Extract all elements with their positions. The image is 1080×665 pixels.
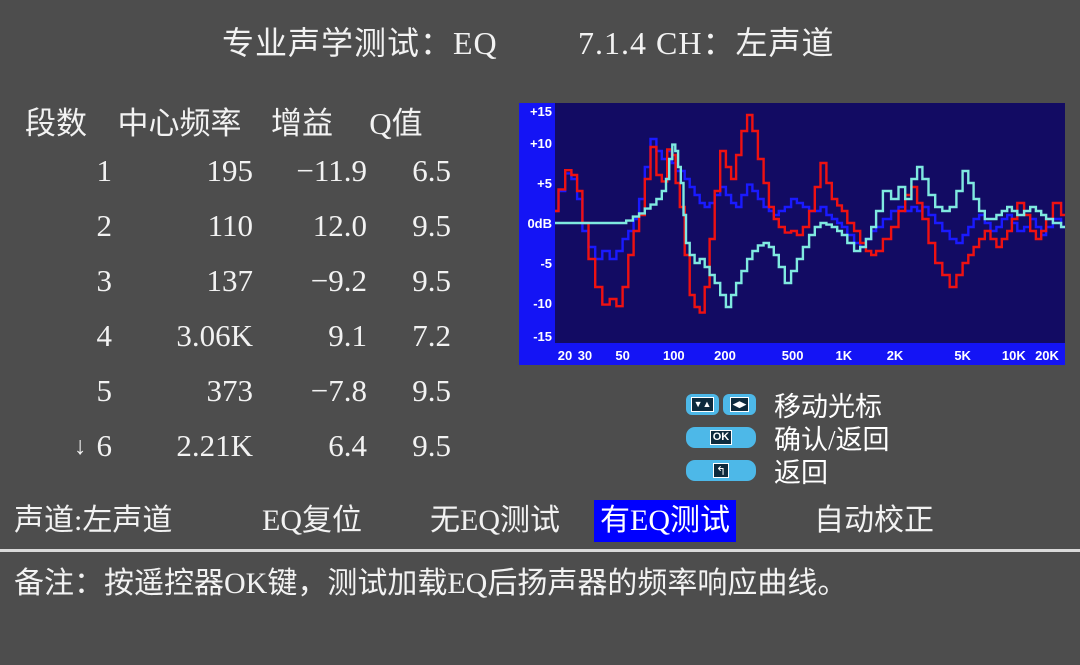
down-up-arrows-icon: ▼▲ bbox=[691, 397, 715, 412]
x-tick-label: 2K bbox=[887, 349, 904, 362]
ok-label: OK bbox=[713, 432, 730, 443]
cell-band: 2 bbox=[0, 208, 118, 244]
x-tick-label: 500 bbox=[782, 349, 804, 362]
ok-icon: OK bbox=[710, 430, 733, 445]
table-row[interactable]: 3 137 −9.2 9.5 bbox=[0, 263, 470, 318]
hint-keys: ▼▲ ◀▶ bbox=[686, 394, 764, 415]
cell-band: 1 bbox=[0, 153, 118, 189]
band-index: 5 bbox=[97, 373, 113, 409]
left-right-arrows-icon: ◀▶ bbox=[730, 397, 750, 412]
hint-keys: ↰ bbox=[686, 460, 764, 481]
return-glyph: ↰ bbox=[716, 465, 726, 477]
footer-divider bbox=[0, 549, 1080, 552]
y-tick-label: -15 bbox=[533, 330, 552, 343]
y-tick-label: 0dB bbox=[527, 217, 552, 230]
x-tick-label: 20 bbox=[558, 349, 572, 362]
cell-q: 9.5 bbox=[373, 373, 451, 409]
cell-frequency: 3.06K bbox=[118, 318, 257, 354]
cell-frequency: 2.21K bbox=[118, 428, 257, 464]
chart-y-axis: +15+10+50dB-5-10-15 bbox=[519, 103, 555, 365]
table-row[interactable]: 2 110 12.0 9.5 bbox=[0, 208, 470, 263]
up-triangle-icon: ▲ bbox=[703, 400, 712, 409]
hint-keys: OK bbox=[686, 427, 764, 448]
band-index: 3 bbox=[97, 263, 113, 299]
y-tick-label: -5 bbox=[540, 257, 552, 270]
y-tick-label: -10 bbox=[533, 297, 552, 310]
cell-band: 5 bbox=[0, 373, 118, 409]
ok-key-button[interactable]: OK bbox=[686, 427, 756, 448]
cell-q: 9.5 bbox=[373, 428, 451, 464]
page-title: 专业声学测试：EQ bbox=[222, 18, 498, 64]
channel-title: 7.1.4 CH：左声道 bbox=[578, 18, 834, 64]
response-curves bbox=[555, 103, 1065, 343]
key-hint-legend: ▼▲ ◀▶ 移动光标 OK 确认/返回 bbox=[686, 388, 1046, 487]
column-header-gain: 增益 bbox=[247, 98, 357, 143]
y-tick-label: +5 bbox=[537, 177, 552, 190]
menu-item-channel[interactable]: 声道:左声道 bbox=[8, 500, 178, 542]
cell-q: 9.5 bbox=[373, 263, 451, 299]
band-index: 4 bbox=[97, 318, 113, 354]
band-index: 2 bbox=[97, 208, 113, 244]
cell-gain: 6.4 bbox=[257, 428, 373, 464]
cell-frequency: 195 bbox=[118, 153, 257, 189]
chart-plot-area bbox=[555, 103, 1065, 343]
leftright-key-button[interactable]: ◀▶ bbox=[723, 394, 756, 415]
cell-band: 4 bbox=[0, 318, 118, 354]
band-index: 1 bbox=[97, 153, 113, 189]
x-tick-label: 5K bbox=[954, 349, 971, 362]
cell-frequency: 110 bbox=[118, 208, 257, 244]
chart-x-axis: 2030501002005001K2K5K10K20K bbox=[519, 343, 1065, 365]
x-tick-label: 30 bbox=[578, 349, 592, 362]
header: 专业声学测试：EQ 7.1.4 CH：左声道 bbox=[0, 18, 1080, 66]
table-header-row: 段数 中心频率 增益 Q值 bbox=[0, 98, 470, 153]
menu-item-eq-reset[interactable]: EQ复位 bbox=[256, 500, 368, 542]
cell-q: 9.5 bbox=[373, 208, 451, 244]
eq-test-screen: 专业声学测试：EQ 7.1.4 CH：左声道 段数 中心频率 增益 Q值 1 1… bbox=[0, 0, 1080, 665]
cell-q: 7.2 bbox=[373, 318, 451, 354]
menu-item-auto-correct[interactable]: 自动校正 bbox=[808, 500, 940, 542]
cell-band: 3 bbox=[0, 263, 118, 299]
left-triangle-icon: ◀ bbox=[733, 400, 740, 409]
cell-gain: 9.1 bbox=[257, 318, 373, 354]
y-tick-label: +15 bbox=[530, 105, 552, 118]
cell-frequency: 137 bbox=[118, 263, 257, 299]
x-tick-label: 100 bbox=[663, 349, 685, 362]
x-tick-label: 1K bbox=[836, 349, 853, 362]
cell-q: 6.5 bbox=[373, 153, 451, 189]
table-row[interactable]: 5 373 −7.8 9.5 bbox=[0, 373, 470, 428]
cell-gain: −11.9 bbox=[257, 153, 373, 189]
x-tick-label: 200 bbox=[714, 349, 736, 362]
frequency-response-chart: +15+10+50dB-5-10-15 2030501002005001K2K5… bbox=[519, 103, 1065, 365]
bottom-menu: 声道:左声道 EQ复位 无EQ测试 有EQ测试 自动校正 bbox=[0, 500, 1080, 544]
x-tick-label: 20K bbox=[1035, 349, 1059, 362]
hint-label-return: 返回 bbox=[774, 451, 828, 490]
cell-gain: −7.8 bbox=[257, 373, 373, 409]
down-triangle-icon: ▼ bbox=[694, 400, 703, 409]
column-header-q: Q值 bbox=[357, 98, 435, 143]
cell-band: ↓6 bbox=[0, 428, 118, 464]
eq-band-table: 段数 中心频率 增益 Q值 1 195 −11.9 6.5 2 110 12.0… bbox=[0, 98, 470, 483]
cell-frequency: 373 bbox=[118, 373, 257, 409]
x-tick-label: 10K bbox=[1002, 349, 1026, 362]
table-row[interactable]: 4 3.06K 9.1 7.2 bbox=[0, 318, 470, 373]
cell-gain: 12.0 bbox=[257, 208, 373, 244]
hint-row-move-cursor: ▼▲ ◀▶ 移动光标 bbox=[686, 388, 1046, 421]
hint-row-confirm: OK 确认/返回 bbox=[686, 421, 1046, 454]
return-key-button[interactable]: ↰ bbox=[686, 460, 756, 481]
menu-item-test-with-eq[interactable]: 有EQ测试 bbox=[594, 500, 736, 542]
table-row[interactable]: ↓6 2.21K 6.4 9.5 bbox=[0, 428, 470, 483]
updown-key-button[interactable]: ▼▲ bbox=[686, 394, 719, 415]
return-arrow-icon: ↰ bbox=[713, 463, 729, 478]
menu-item-test-no-eq[interactable]: 无EQ测试 bbox=[424, 500, 566, 542]
column-header-frequency: 中心频率 bbox=[112, 98, 247, 143]
cell-gain: −9.2 bbox=[257, 263, 373, 299]
y-tick-label: +10 bbox=[530, 137, 552, 150]
band-index: 6 bbox=[97, 428, 113, 464]
column-header-band: 段数 bbox=[0, 98, 112, 143]
hint-row-return: ↰ 返回 bbox=[686, 454, 1046, 487]
footer-note: 备注：按遥控器OK键，测试加载EQ后扬声器的频率响应曲线。 bbox=[14, 558, 847, 602]
x-tick-label: 50 bbox=[615, 349, 629, 362]
table-row[interactable]: 1 195 −11.9 6.5 bbox=[0, 153, 470, 208]
curve-red-response bbox=[555, 115, 1065, 313]
scroll-down-icon: ↓ bbox=[74, 434, 87, 459]
right-triangle-icon: ▶ bbox=[740, 400, 747, 409]
